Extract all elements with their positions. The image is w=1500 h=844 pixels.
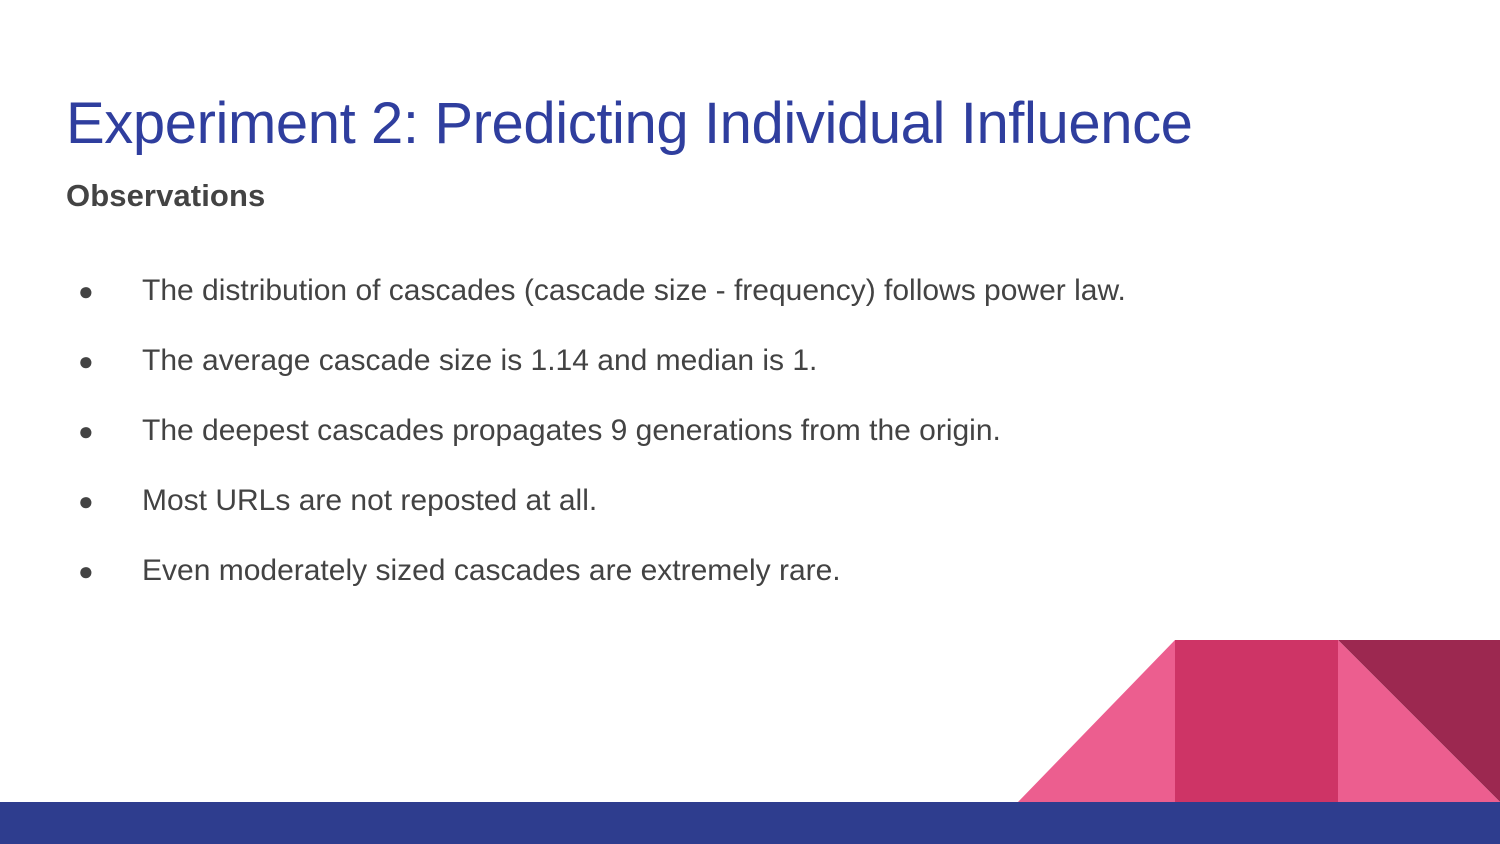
list-item-label: The distribution of cascades (cascade si… [142,274,1126,307]
list-item: ● The distribution of cascades (cascade … [66,263,1446,333]
footer-bar [0,802,1500,844]
bullet-point-icon: ● [78,403,98,459]
decor-maroon-triangle-right [1338,640,1500,802]
bullet-point-icon: ● [78,333,98,389]
bullet-point-icon: ● [78,473,98,529]
bullet-point-icon: ● [78,263,98,319]
list-item-label: Even moderately sized cascades are extre… [142,554,841,587]
decor-crimson-rectangle [1175,640,1338,802]
section-subheading: Observations [66,178,265,214]
observations-list: ● The distribution of cascades (cascade … [66,263,1446,613]
list-item-label: The deepest cascades propagates 9 genera… [142,414,1001,447]
list-item: ● The average cascade size is 1.14 and m… [66,333,1446,403]
bullet-point-icon: ● [78,543,98,599]
page-title: Experiment 2: Predicting Individual Infl… [66,91,1426,158]
list-item-label: Most URLs are not reposted at all. [142,484,597,517]
list-item: ● Even moderately sized cascades are ext… [66,543,1446,613]
slide-canvas: Experiment 2: Predicting Individual Infl… [0,0,1500,844]
list-item-label: The average cascade size is 1.14 and med… [142,344,817,377]
list-item: ● Most URLs are not reposted at all. [66,473,1446,543]
list-item: ● The deepest cascades propagates 9 gene… [66,403,1446,473]
decor-pink-triangle-right [1338,640,1500,802]
decor-pink-triangle-left [1018,640,1175,802]
